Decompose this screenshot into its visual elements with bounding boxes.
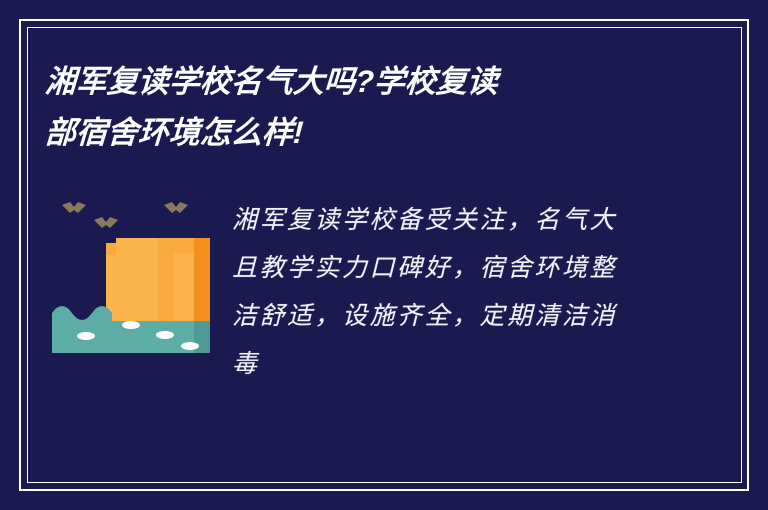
bird-left xyxy=(62,202,86,213)
body-line-3: 洁舒适，设施齐全，定期清洁消 xyxy=(232,292,652,340)
body-line-1: 湘军复读学校备受关注，名气大 xyxy=(232,196,652,244)
body-line-4: 毒 xyxy=(232,340,652,388)
page-title: 湘军复读学校名气大吗?学校复读 部宿舍环境怎么样! xyxy=(45,56,705,158)
title-line-2: 部宿舍环境怎么样! xyxy=(44,107,707,158)
poster-canvas: 湘军复读学校名气大吗?学校复读 部宿舍环境怎么样! xyxy=(0,0,768,510)
bird-right xyxy=(164,202,188,213)
title-line-1: 湘军复读学校名气大吗?学校复读 xyxy=(44,56,707,107)
body-copy: 湘军复读学校备受关注，名气大 且教学实力口碑好，宿舍环境整 洁舒适，设施齐全，定… xyxy=(232,196,652,388)
cliff-and-sea-illustration xyxy=(52,193,210,353)
bird-center xyxy=(94,217,118,228)
body-line-2: 且教学实力口碑好，宿舍环境整 xyxy=(232,244,652,292)
